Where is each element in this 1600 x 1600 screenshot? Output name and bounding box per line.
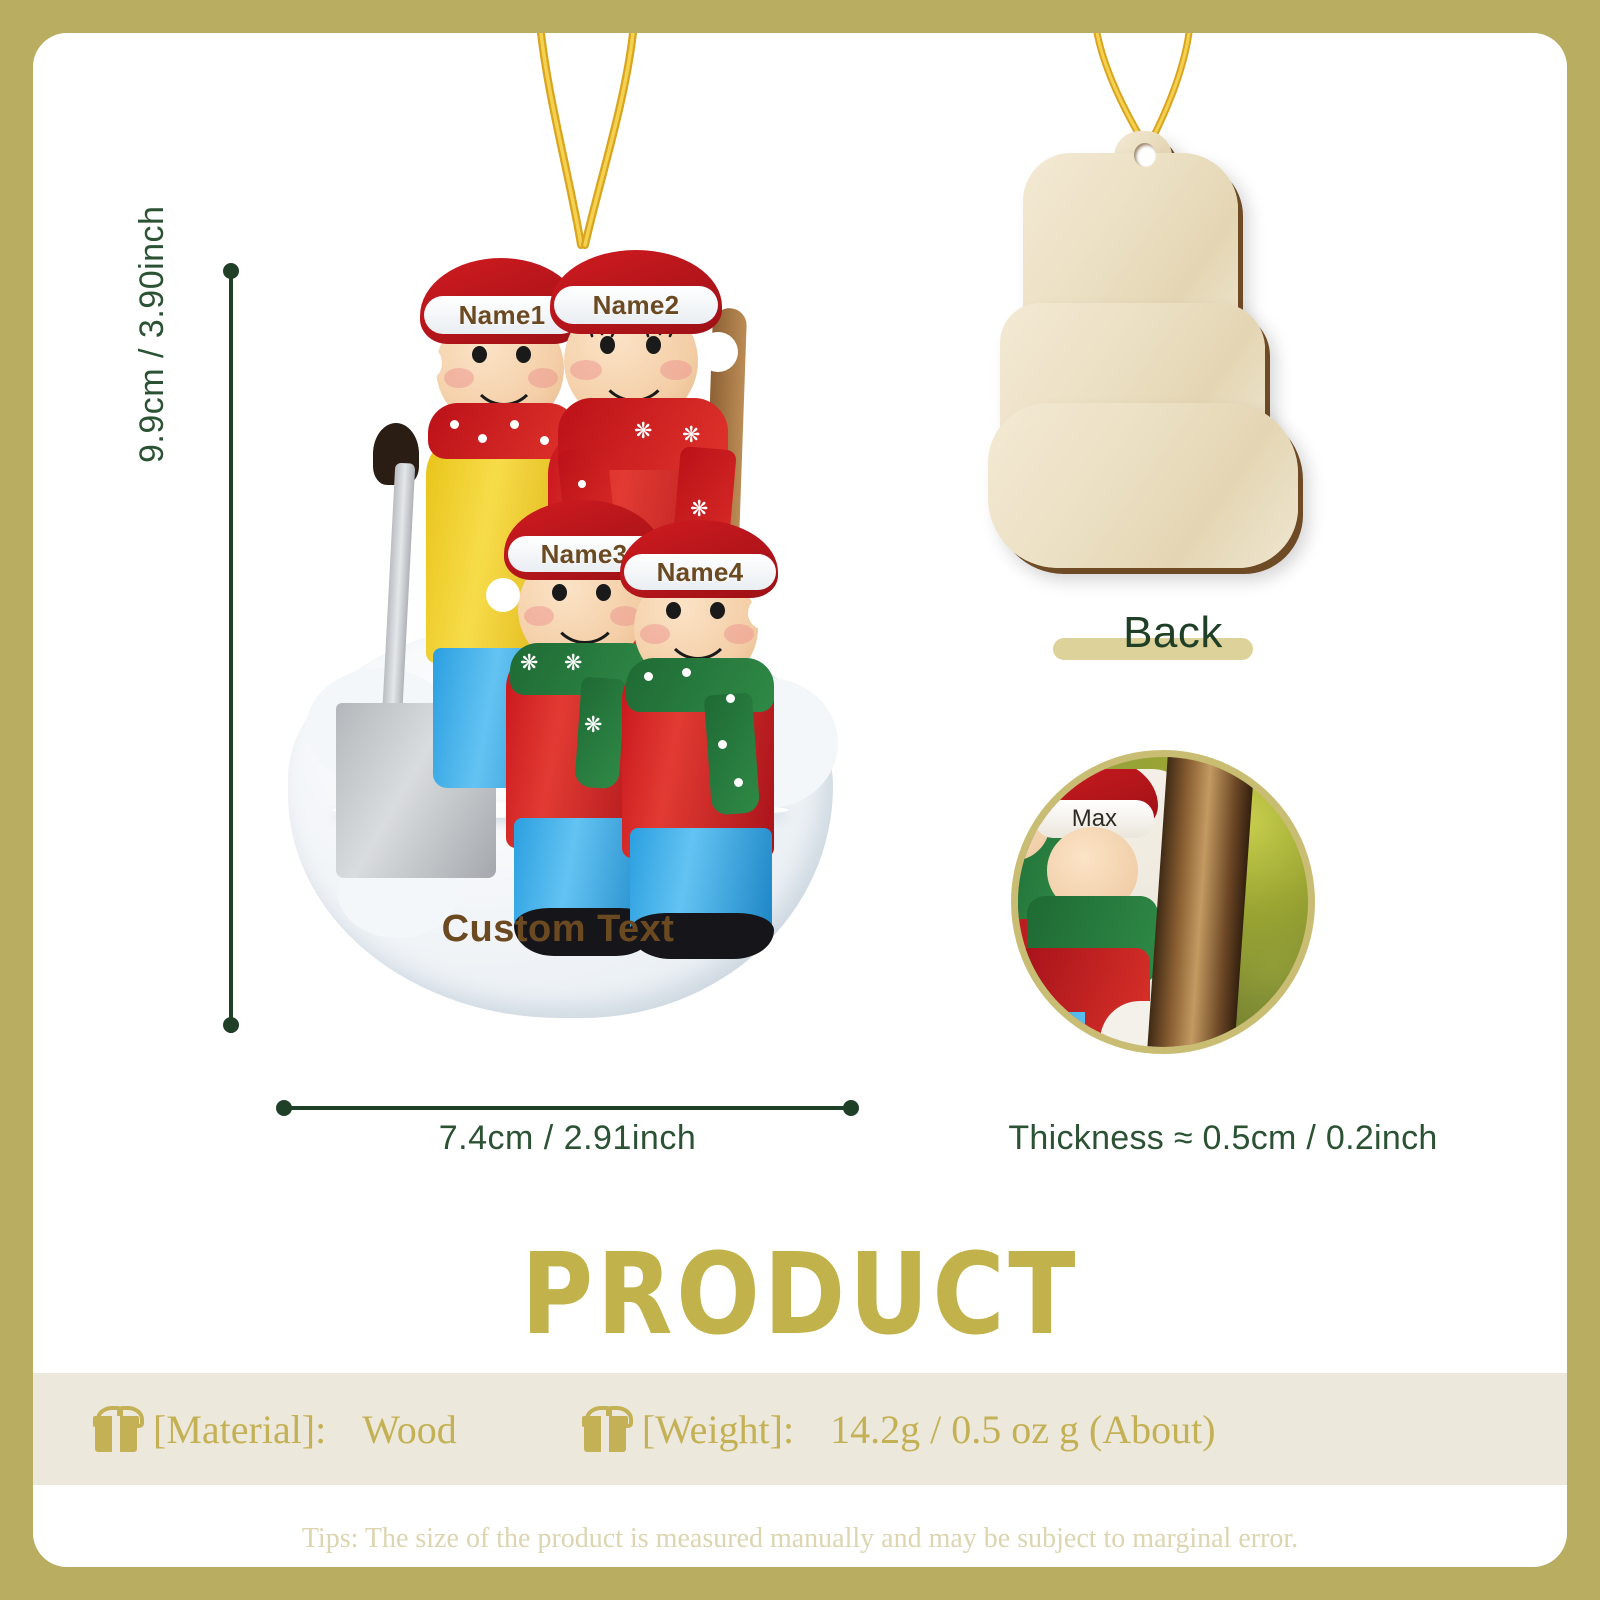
- custom-text-engraving: Custom Text: [278, 908, 838, 951]
- figure4-scarf-dot-a: [644, 672, 653, 681]
- figure3-snowflake-b: ❋: [564, 652, 582, 674]
- height-guide-bottom-cap: [223, 1017, 239, 1033]
- figure2-snowflake-c: ❋: [690, 498, 708, 520]
- figure2-scarf-dot-a: [578, 480, 586, 488]
- figure1-eye-right: [516, 346, 531, 363]
- figure4-name: Name4: [657, 557, 744, 588]
- figure3-snowflake-c: ❋: [584, 714, 602, 736]
- figure1-eye-left: [472, 346, 487, 363]
- back-label: Back: [1033, 608, 1313, 658]
- spec-item-weight: [Weight]: 14.2g / 0.5 oz g (About): [582, 1406, 1216, 1453]
- spec-weight-value: 14.2g / 0.5 oz g (About): [830, 1406, 1216, 1453]
- figure2-hat-brim: Name2: [554, 286, 718, 324]
- closeup-pants: [1011, 1012, 1085, 1054]
- figure1-scarf-dot-c: [510, 420, 519, 429]
- spec-weight-key: [Weight]:: [642, 1406, 794, 1453]
- height-dimension-label: 9.9cm / 3.90inch: [133, 63, 172, 463]
- figure1-scarf-dot-d: [540, 436, 549, 445]
- figure2-snowflake-a: ❋: [634, 420, 652, 442]
- figure4-scarf-dot-d: [718, 740, 727, 749]
- gift-icon: [582, 1406, 628, 1452]
- figure2-hat-pom: [698, 332, 738, 372]
- figure3-eye-right: [596, 584, 611, 601]
- ornament-front-view: Name1 Name2: [278, 248, 858, 1038]
- back-label-text: Back: [1123, 608, 1223, 657]
- tips-note: Tips: The size of the product is measure…: [33, 1523, 1567, 1555]
- width-guide-right-cap: [843, 1100, 859, 1116]
- hanging-cord-front: [473, 33, 693, 273]
- figure4-hat-pom: [748, 596, 782, 630]
- spec-material-key: [Material]:: [153, 1406, 326, 1453]
- figure3-name: Name3: [541, 539, 628, 570]
- width-guide-line: [284, 1106, 851, 1110]
- figure4-scarf-tail: [704, 692, 760, 815]
- figure1-hat-pom: [404, 344, 442, 382]
- spec-item-material: [Material]: Wood: [93, 1406, 457, 1453]
- figure3-hat-pom: [486, 578, 520, 612]
- width-guide-left-cap: [276, 1100, 292, 1116]
- height-guide-line: [229, 271, 233, 1033]
- infographic-page: 9.9cm / 3.90inch 7.4cm / 2.91inch Thickn…: [0, 0, 1600, 1600]
- figure3-eye-left: [552, 584, 567, 601]
- figure4-eye-right: [710, 602, 725, 619]
- figure4-eye-left: [666, 602, 681, 619]
- back-hang-hole: [1134, 143, 1156, 167]
- figure3-snowflake-a: ❋: [520, 652, 538, 674]
- figure4-hat-brim: Name4: [624, 554, 776, 590]
- spec-material-value: Wood: [362, 1406, 457, 1453]
- content-card: 9.9cm / 3.90inch 7.4cm / 2.91inch Thickn…: [33, 33, 1567, 1567]
- figure2-snowflake-b: ❋: [682, 424, 700, 446]
- back-lower-section: [988, 403, 1298, 568]
- spec-band: [Material]: Wood [Weight]: 14.2g / 0.5 o…: [33, 1373, 1567, 1485]
- width-dimension-label: 7.4cm / 2.91inch: [284, 1119, 851, 1158]
- figure1-scarf-dot-b: [478, 434, 487, 443]
- figure4-scarf-dot-b: [682, 668, 691, 677]
- gift-icon: [93, 1406, 139, 1452]
- figure1-scarf-dot-a: [450, 420, 459, 429]
- thickness-dimension-label: Thickness ≈ 0.5cm / 0.2inch: [913, 1119, 1533, 1158]
- height-guide-top-cap: [223, 263, 239, 279]
- figure4-scarf-dot-e: [734, 778, 743, 787]
- figure1-name: Name1: [459, 300, 546, 331]
- ornament-back-view: [988, 153, 1298, 568]
- figure4-scarf-dot-c: [726, 694, 735, 703]
- thickness-closeup-photo: Max: [1011, 750, 1315, 1054]
- figure2-name: Name2: [593, 290, 680, 321]
